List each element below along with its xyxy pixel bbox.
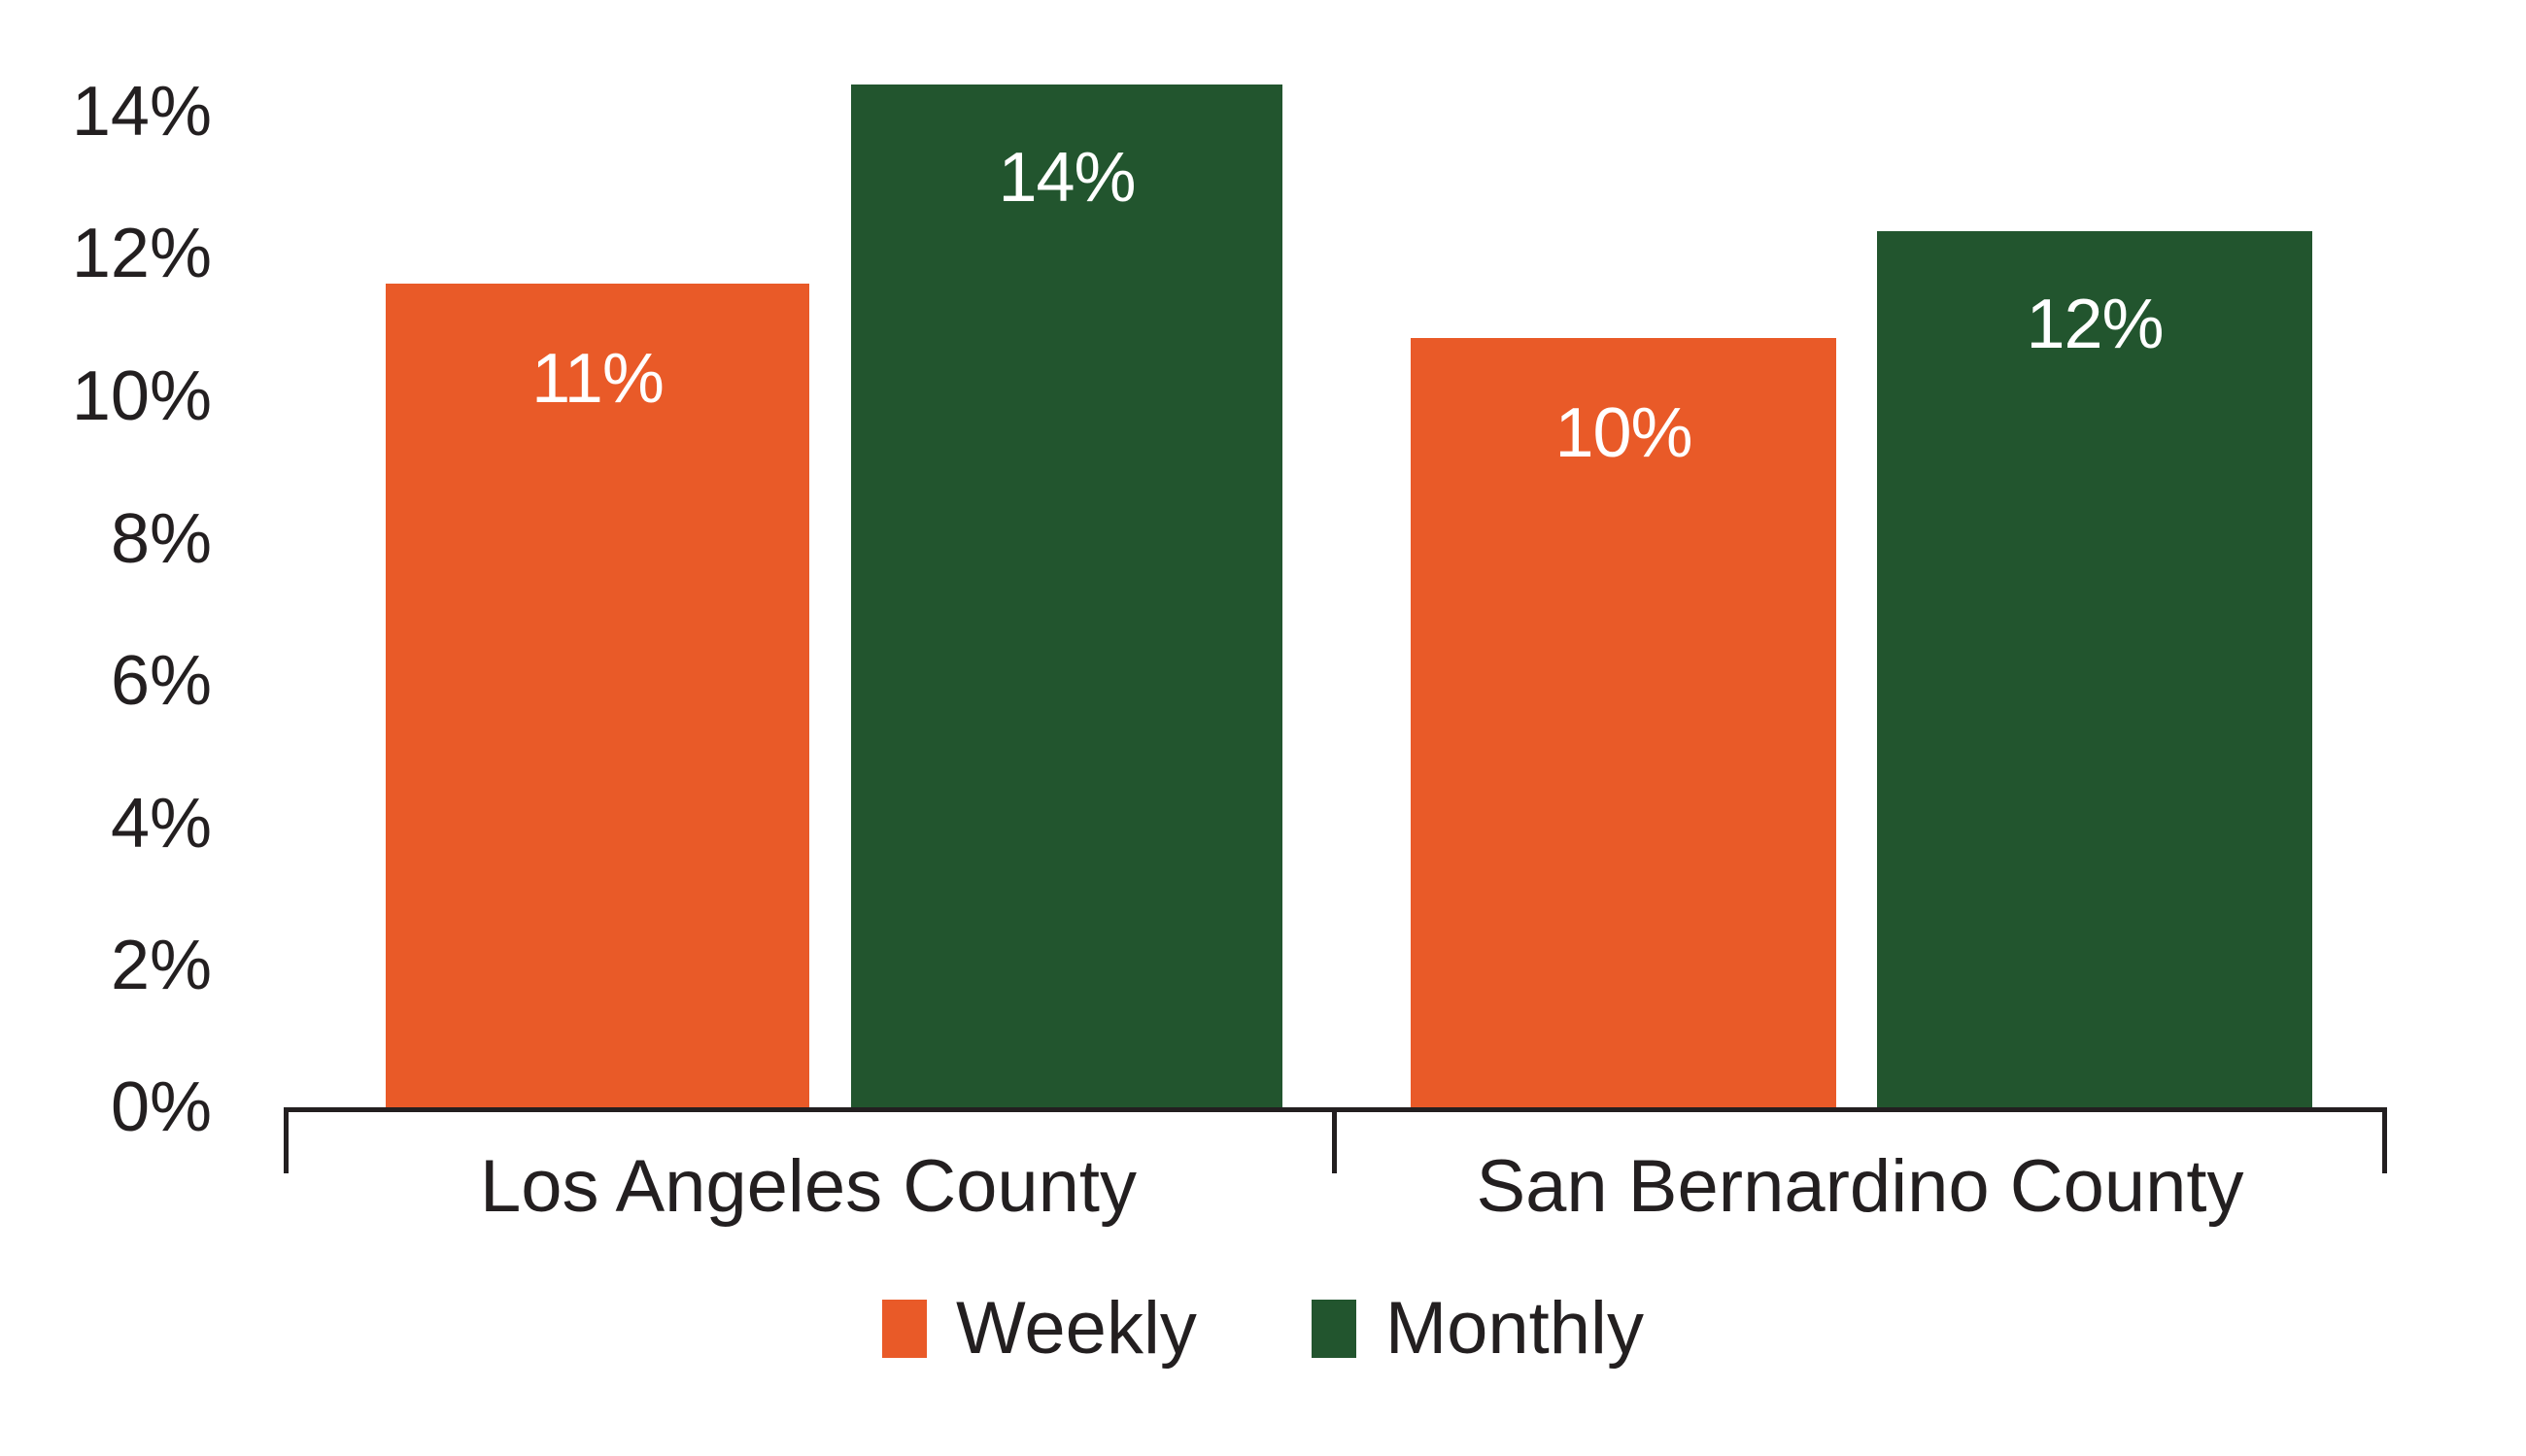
legend-swatch-monthly-icon [1312,1300,1356,1358]
x-axis-category-los-angeles-county: Los Angeles County [284,1150,1333,1224]
y-axis-tick-0: 0% [0,1072,212,1142]
bar-sb-monthly[interactable]: 12% [1877,231,2312,1107]
bar-value-sb-weekly: 10% [1411,398,1836,468]
legend-label-monthly: Monthly [1385,1292,1644,1366]
y-axis-tick-6: 6% [0,646,212,716]
y-axis-tick-8: 8% [0,504,212,574]
legend-item-monthly[interactable]: Monthly [1312,1292,1644,1366]
legend-item-weekly[interactable]: Weekly [882,1292,1197,1366]
y-axis-tick-4: 4% [0,789,212,859]
bar-value-la-monthly: 14% [851,143,1282,213]
bar-sb-weekly[interactable]: 10% [1411,338,1836,1107]
legend: Weekly Monthly [0,1292,2526,1366]
bar-la-weekly[interactable]: 11% [386,284,809,1107]
bar-chart: 14% 12% 10% 8% 6% 4% 2% 0% 11% 14% 10% 1… [0,0,2526,1456]
legend-label-weekly: Weekly [956,1292,1197,1366]
bar-value-sb-monthly: 12% [1877,289,2312,359]
bar-value-la-weekly: 11% [386,344,809,414]
y-axis-tick-10: 10% [0,361,212,431]
bar-la-monthly[interactable]: 14% [851,85,1282,1107]
y-axis-tick-2: 2% [0,931,212,1000]
y-axis-tick-14: 14% [0,77,212,147]
x-axis-category-san-bernardino-county: San Bernardino County [1333,1150,2387,1224]
legend-swatch-weekly-icon [882,1300,927,1358]
y-axis-tick-12: 12% [0,219,212,288]
